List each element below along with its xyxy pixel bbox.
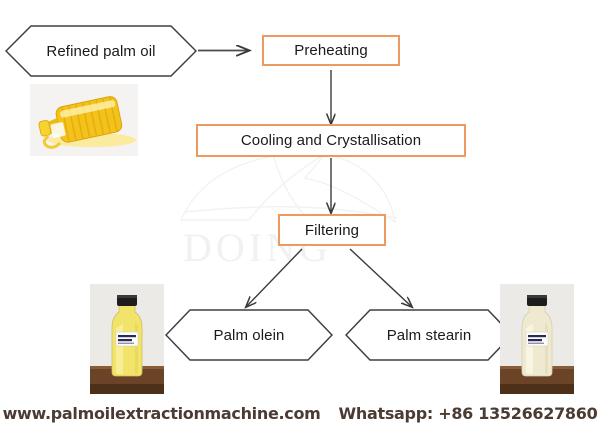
node-label: Refined palm oil — [5, 25, 197, 77]
palm-oil-bottle-image — [30, 84, 138, 156]
node-label: Filtering — [305, 222, 359, 239]
node-label: Preheating — [294, 42, 368, 59]
palm-stearin-bottle-image — [500, 284, 574, 394]
node-preheating[interactable]: Preheating — [262, 35, 400, 66]
footer-website: www.palmoilextractionmachine.com — [3, 404, 321, 423]
node-label: Cooling and Crystallisation — [241, 132, 421, 149]
node-label: Palm stearin — [345, 309, 513, 361]
flowchart-page: DOING Refined palm oil Preheating Coolin… — [0, 0, 600, 431]
footer-whatsapp: Whatsapp: +86 13526627860 — [339, 404, 598, 423]
node-palm-stearin[interactable]: Palm stearin — [345, 309, 513, 361]
footer-contact-bar: www.palmoilextractionmachine.com Whatsap… — [0, 396, 600, 431]
arrow-filtering-to-palm-olein — [246, 249, 302, 307]
palm-olein-bottle-image — [90, 284, 164, 394]
node-filtering[interactable]: Filtering — [278, 214, 386, 246]
photo-refined-palm-oil-bottle — [30, 84, 138, 156]
node-label: Palm olein — [165, 309, 333, 361]
watermark-leaf-icon — [175, 148, 425, 273]
photo-palm-stearin-bottle — [500, 284, 574, 394]
node-palm-olein[interactable]: Palm olein — [165, 309, 333, 361]
node-refined-palm-oil[interactable]: Refined palm oil — [5, 25, 197, 77]
photo-palm-olein-bottle — [90, 284, 164, 394]
doing-watermark: DOING — [175, 148, 425, 273]
arrow-filtering-to-palm-stearin — [350, 249, 412, 307]
node-cooling-and-crystallisation[interactable]: Cooling and Crystallisation — [196, 124, 466, 157]
